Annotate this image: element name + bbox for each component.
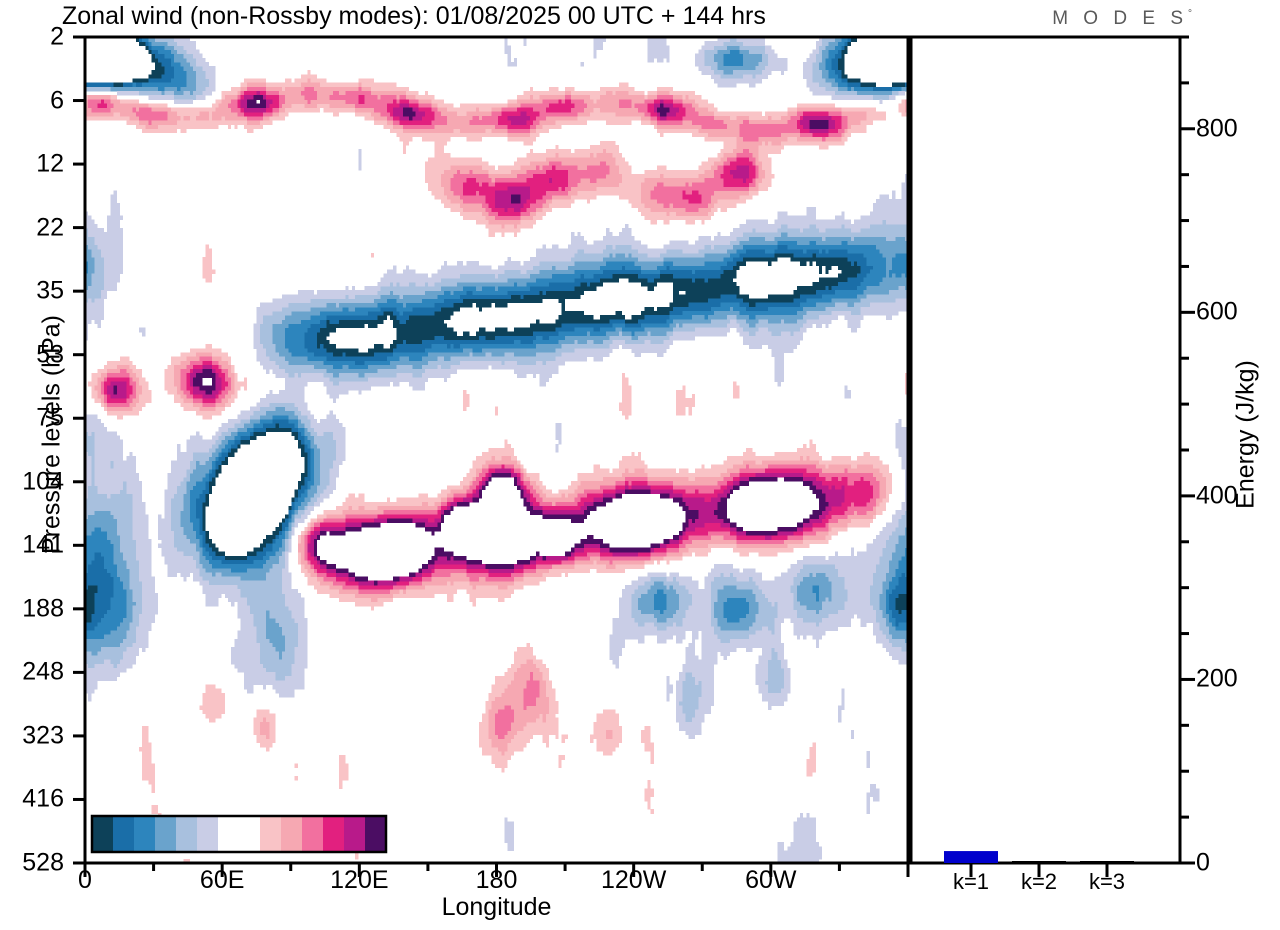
colorbar-band-8	[260, 816, 282, 852]
energy-bar-k-1	[944, 851, 998, 863]
colorbar-band-9	[281, 816, 303, 852]
colorbar-band-5	[197, 816, 219, 852]
colorbar-band-13	[365, 816, 387, 852]
colorbar-band-1	[113, 816, 135, 852]
energy-panel-frame	[911, 37, 1180, 863]
colorbar-band-11	[323, 816, 345, 852]
colorbar-band-4	[176, 816, 198, 852]
energy-bar-k-3	[1080, 861, 1134, 863]
colorbar-band-7	[239, 816, 261, 852]
colorbar-band-0	[92, 816, 114, 852]
colorbar-band-6	[218, 816, 240, 852]
contour-field	[85, 37, 911, 864]
colorbar	[92, 816, 387, 852]
colorbar-band-3	[155, 816, 177, 852]
energy-bar-k-2	[1012, 861, 1066, 863]
energy-bars	[944, 851, 1134, 863]
figure-canvas	[0, 0, 1280, 930]
colorbar-band-10	[302, 816, 324, 852]
colorbar-band-12	[344, 816, 366, 852]
colorbar-band-2	[134, 816, 156, 852]
